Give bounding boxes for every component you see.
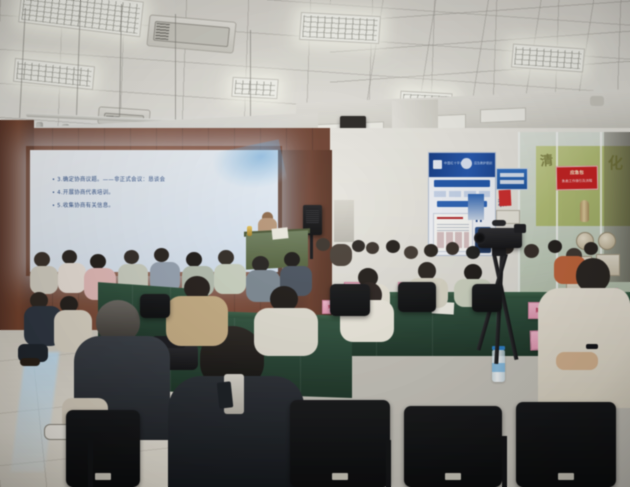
slide-bullet: 5.收集协商有关信息。 xyxy=(52,200,268,213)
display-vase xyxy=(580,200,589,222)
presenter-document xyxy=(271,227,288,240)
shoe xyxy=(20,358,40,366)
folding-chair xyxy=(398,282,436,312)
info-board-header-right: 应急救护培训 xyxy=(474,161,492,165)
attendee-body xyxy=(58,263,86,293)
chair-leg xyxy=(88,440,93,487)
podium-lamp xyxy=(247,226,252,236)
folding-chair xyxy=(66,410,140,487)
attendee-head xyxy=(446,242,459,255)
hanging-wire xyxy=(175,14,176,120)
org-logo-icon xyxy=(433,160,442,169)
attendee-head xyxy=(218,250,234,265)
info-board-header: 中国红十字会 应急救护培训 xyxy=(429,153,495,177)
bottle-label xyxy=(492,363,505,373)
attendee-head xyxy=(284,252,300,267)
attendee-head xyxy=(404,246,418,259)
display-plate xyxy=(598,232,616,250)
attendee-head xyxy=(366,242,379,254)
attendee-head xyxy=(154,248,169,262)
slide-bullet-list: 3.确定协商议题。——非正式会议：恳谈会 4.开展协商代表培训。 5.收集协商有… xyxy=(52,174,268,213)
glass-character-icon: 清 xyxy=(539,149,554,169)
poster-accent-bar xyxy=(437,217,463,219)
attendee-arm xyxy=(556,352,598,370)
attendee-head xyxy=(576,258,610,292)
camera-microphone xyxy=(492,220,506,226)
red-vertical-banner xyxy=(499,190,512,207)
attendee-head xyxy=(186,252,202,267)
glass-character-icon: 化 xyxy=(608,152,623,173)
blue-wall-sign xyxy=(496,168,528,190)
attendee-head xyxy=(466,246,480,259)
wall-panel xyxy=(334,200,354,242)
red-notice-sign: 应急包 急救工作指引及流程 xyxy=(556,166,598,191)
attendee-body xyxy=(330,244,352,266)
ceiling-light-panel xyxy=(299,12,381,44)
folding-chair xyxy=(404,406,502,487)
camera-lens-icon xyxy=(474,232,486,244)
speaker-stand xyxy=(310,233,313,259)
chair-leg xyxy=(502,436,507,487)
attendee-head xyxy=(124,250,139,264)
attendee-head xyxy=(548,240,562,253)
chair-leg xyxy=(386,440,391,487)
attendee-body xyxy=(538,288,630,408)
folding-chair xyxy=(330,284,370,316)
red-sign-line2: 急救工作指引及流程 xyxy=(557,178,597,184)
attendee-head xyxy=(62,250,77,264)
slide-bullet: 4.开展协商代表培训。 xyxy=(52,187,268,200)
attendee-body xyxy=(214,264,246,294)
attendee-head xyxy=(352,240,365,252)
emblem-icon xyxy=(461,158,472,169)
folding-chair xyxy=(290,400,390,487)
chair-label xyxy=(445,473,461,480)
conference-room-photo: 应急包 急救工作指引及流程 清 化 和 中国红十字会 应急救护培训 H xyxy=(0,0,630,487)
attendee-body xyxy=(254,308,318,356)
attendee-head xyxy=(386,240,400,253)
wall-poster-small xyxy=(468,194,484,220)
chair-label xyxy=(332,473,348,480)
wrist-watch xyxy=(586,344,598,349)
folding-chair xyxy=(516,402,616,487)
red-sign-line1: 应急包 xyxy=(557,170,597,177)
chair-label xyxy=(95,473,111,480)
attendee-head xyxy=(524,244,539,258)
info-board-strip xyxy=(434,180,490,187)
ceiling-speaker-dome xyxy=(590,96,604,106)
hanging-wire xyxy=(250,30,251,122)
attendee-head xyxy=(584,242,598,255)
folding-chair xyxy=(472,284,502,312)
chair-label xyxy=(558,473,574,480)
ceiling-light-panel xyxy=(511,44,585,73)
attendee-head xyxy=(90,254,106,269)
attendee-body xyxy=(166,296,228,346)
camera-viewfinder xyxy=(514,224,526,233)
necktie xyxy=(217,381,234,408)
attendee-head xyxy=(424,244,438,257)
attendee-body xyxy=(30,266,58,294)
folding-chair xyxy=(140,294,170,318)
attendee-head xyxy=(34,252,50,267)
slide-bullet: 3.确定协商议题。——非正式会议：恳谈会 xyxy=(52,174,268,187)
attendee-head xyxy=(316,238,330,251)
ceiling-light-panel xyxy=(231,77,278,99)
